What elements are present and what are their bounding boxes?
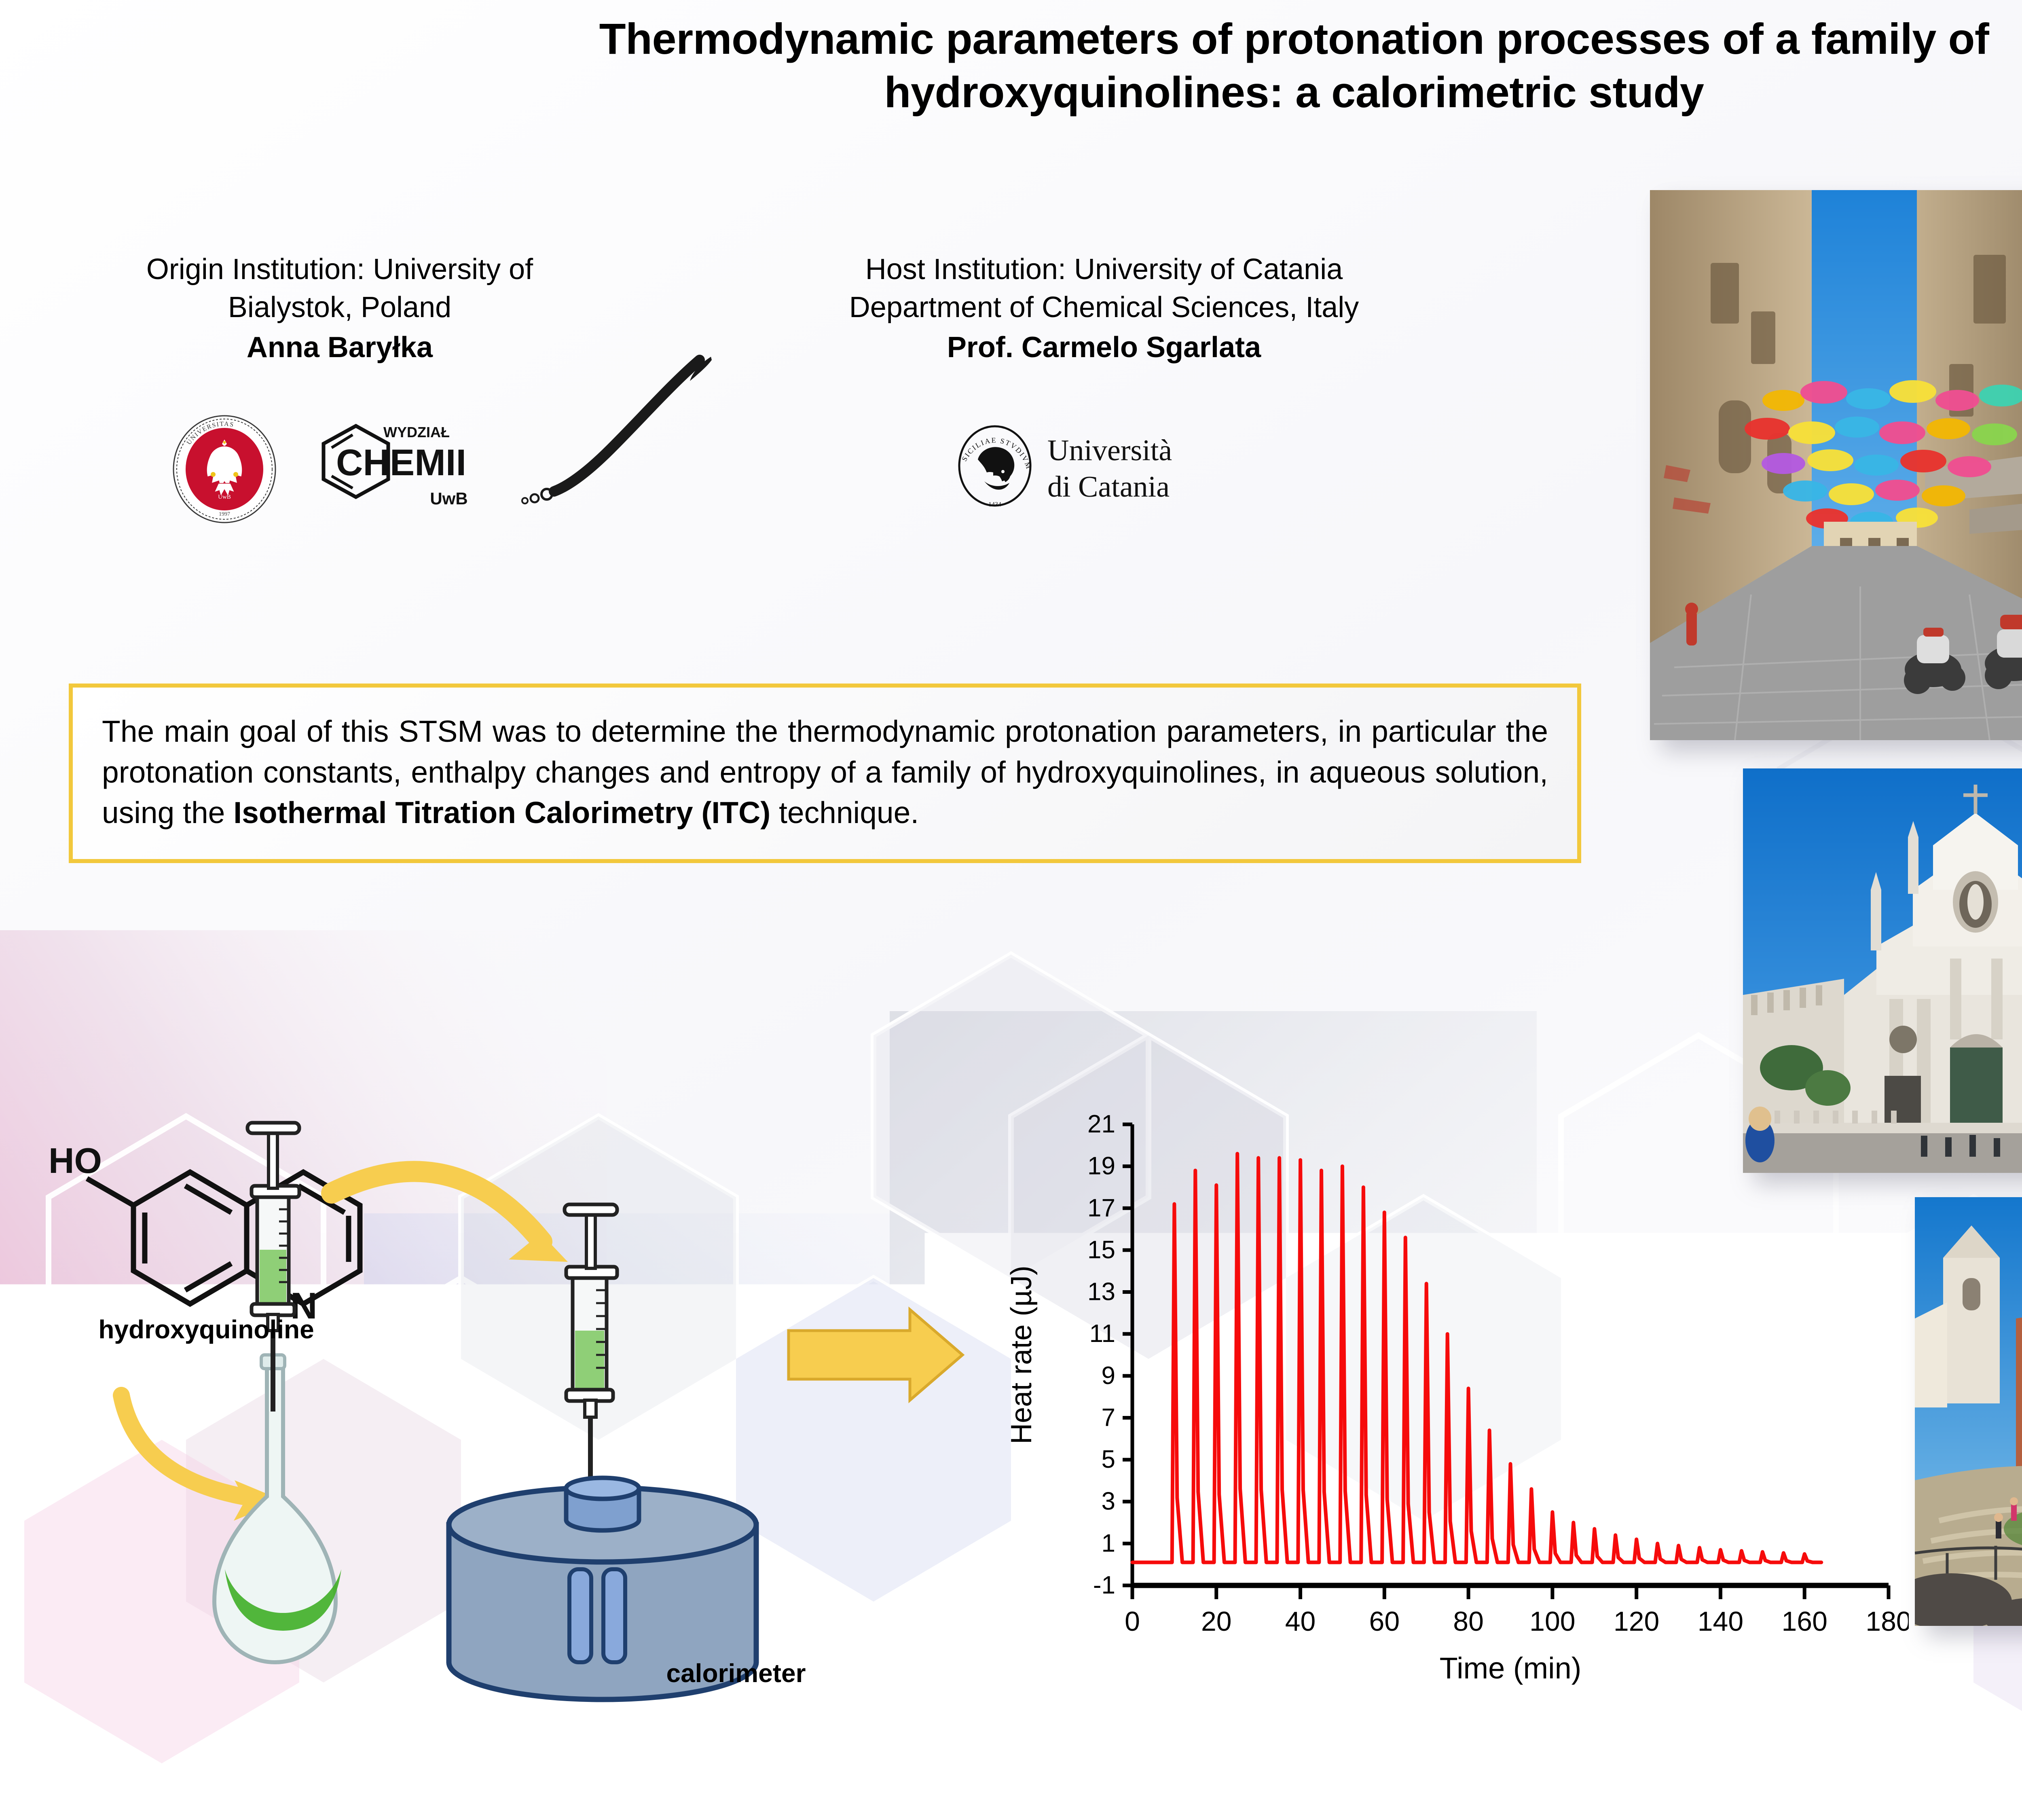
- experimental-scheme-illustration: HO N: [0, 1072, 991, 1719]
- faculty-of-chemistry-uwb-logo: WYDZIAŁ CHEMII UwB: [315, 419, 477, 520]
- x-tick-label: 80: [1453, 1606, 1484, 1637]
- syringe-above-calorimeter: [565, 1204, 617, 1492]
- host-person-name: Prof. Carmelo Sgarlata: [720, 329, 1488, 367]
- y-axis-label: Heat rate (µJ): [1005, 1266, 1038, 1444]
- chemii-bottom-word: UwB: [430, 489, 467, 508]
- university-of-catania-logo: SICILIAE STVDIVM 1434 Università di Cata…: [954, 421, 1278, 514]
- x-tick-label: 180: [1865, 1606, 1909, 1637]
- photo-catania-cathedral: [1743, 768, 2022, 1173]
- host-institution-block: Host Institution: University of Catania …: [720, 251, 1488, 367]
- y-tick-label: -1: [1093, 1571, 1115, 1599]
- goal-text-part2: technique.: [770, 796, 919, 830]
- catania-name-line1: Università: [1047, 434, 1172, 467]
- main-goal-text: The main goal of this STSM was to determ…: [102, 711, 1548, 833]
- main-goal-textbox: The main goal of this STSM was to determ…: [69, 684, 1581, 863]
- x-tick-label: 60: [1369, 1606, 1400, 1637]
- x-tick-label: 140: [1698, 1606, 1743, 1637]
- x-tick-label: 120: [1614, 1606, 1659, 1637]
- y-tick-label: 17: [1087, 1194, 1115, 1222]
- thermogram-trace: [1132, 1154, 1821, 1563]
- x-tick-label: 100: [1529, 1606, 1575, 1637]
- molecule-hydroxyl-label: HO: [49, 1141, 102, 1181]
- x-tick-label: 20: [1201, 1606, 1232, 1637]
- x-tick-label: 0: [1125, 1606, 1140, 1637]
- y-tick-label: 19: [1087, 1152, 1115, 1180]
- chemii-word: CHEMII: [336, 442, 466, 483]
- arrow-calorimeter-to-chart: [789, 1310, 962, 1400]
- calorimeter-label: calorimeter: [578, 1658, 894, 1688]
- y-tick-label: 9: [1102, 1362, 1115, 1390]
- origin-institution-line1: Origin Institution: University of: [146, 253, 533, 286]
- x-axis-label: Time (min): [1440, 1651, 1582, 1685]
- uwb-seal-year: 1997: [219, 511, 230, 517]
- poster-title: Thermodynamic parameters of protonation …: [518, 12, 2022, 119]
- y-tick-label: 1: [1102, 1529, 1115, 1557]
- hydroxyquinoline-label: hydroxyquinoline: [44, 1314, 368, 1344]
- uwb-seal-mark: UwB: [218, 494, 231, 500]
- chemii-top-word: WYDZIAŁ: [383, 424, 450, 440]
- itc-thermogram-chart: -113579111315171921020406080100120140160…: [971, 1108, 1909, 1699]
- goal-text-emphasis: Isothermal Titration Calorimetry (ITC): [233, 796, 770, 830]
- host-institution-line1: Host Institution: University of Catania: [865, 253, 1343, 286]
- host-institution-line2: Department of Chemical Sciences, Italy: [849, 291, 1359, 324]
- volumetric-flask: [214, 1355, 341, 1662]
- catania-seal-year: 1434: [988, 501, 1001, 508]
- y-tick-label: 21: [1087, 1110, 1115, 1138]
- x-tick-label: 160: [1781, 1606, 1827, 1637]
- y-tick-label: 3: [1102, 1488, 1115, 1515]
- y-tick-label: 7: [1102, 1403, 1115, 1431]
- hydroxyquinoline-structure: [87, 1172, 360, 1304]
- y-tick-label: 5: [1102, 1445, 1115, 1473]
- y-tick-label: 15: [1087, 1236, 1115, 1264]
- x-tick-label: 40: [1285, 1606, 1316, 1637]
- y-tick-label: 11: [1089, 1320, 1115, 1348]
- y-tick-label: 13: [1087, 1278, 1115, 1306]
- arrow-flask-to-calorimeter: [332, 1171, 568, 1262]
- photo-catania-umbrella-street: [1650, 190, 2022, 740]
- decorative-brush-swoosh: [510, 348, 736, 510]
- origin-institution-line2: Bialystok, Poland: [228, 291, 451, 324]
- catania-name-line2: di Catania: [1047, 470, 1170, 504]
- university-of-bialystok-seal-logo: UwB 1997 UNIVERSITAS: [170, 415, 279, 524]
- syringe-in-flask: [247, 1123, 299, 1412]
- photo-catania-roman-theatre: [1915, 1197, 2022, 1626]
